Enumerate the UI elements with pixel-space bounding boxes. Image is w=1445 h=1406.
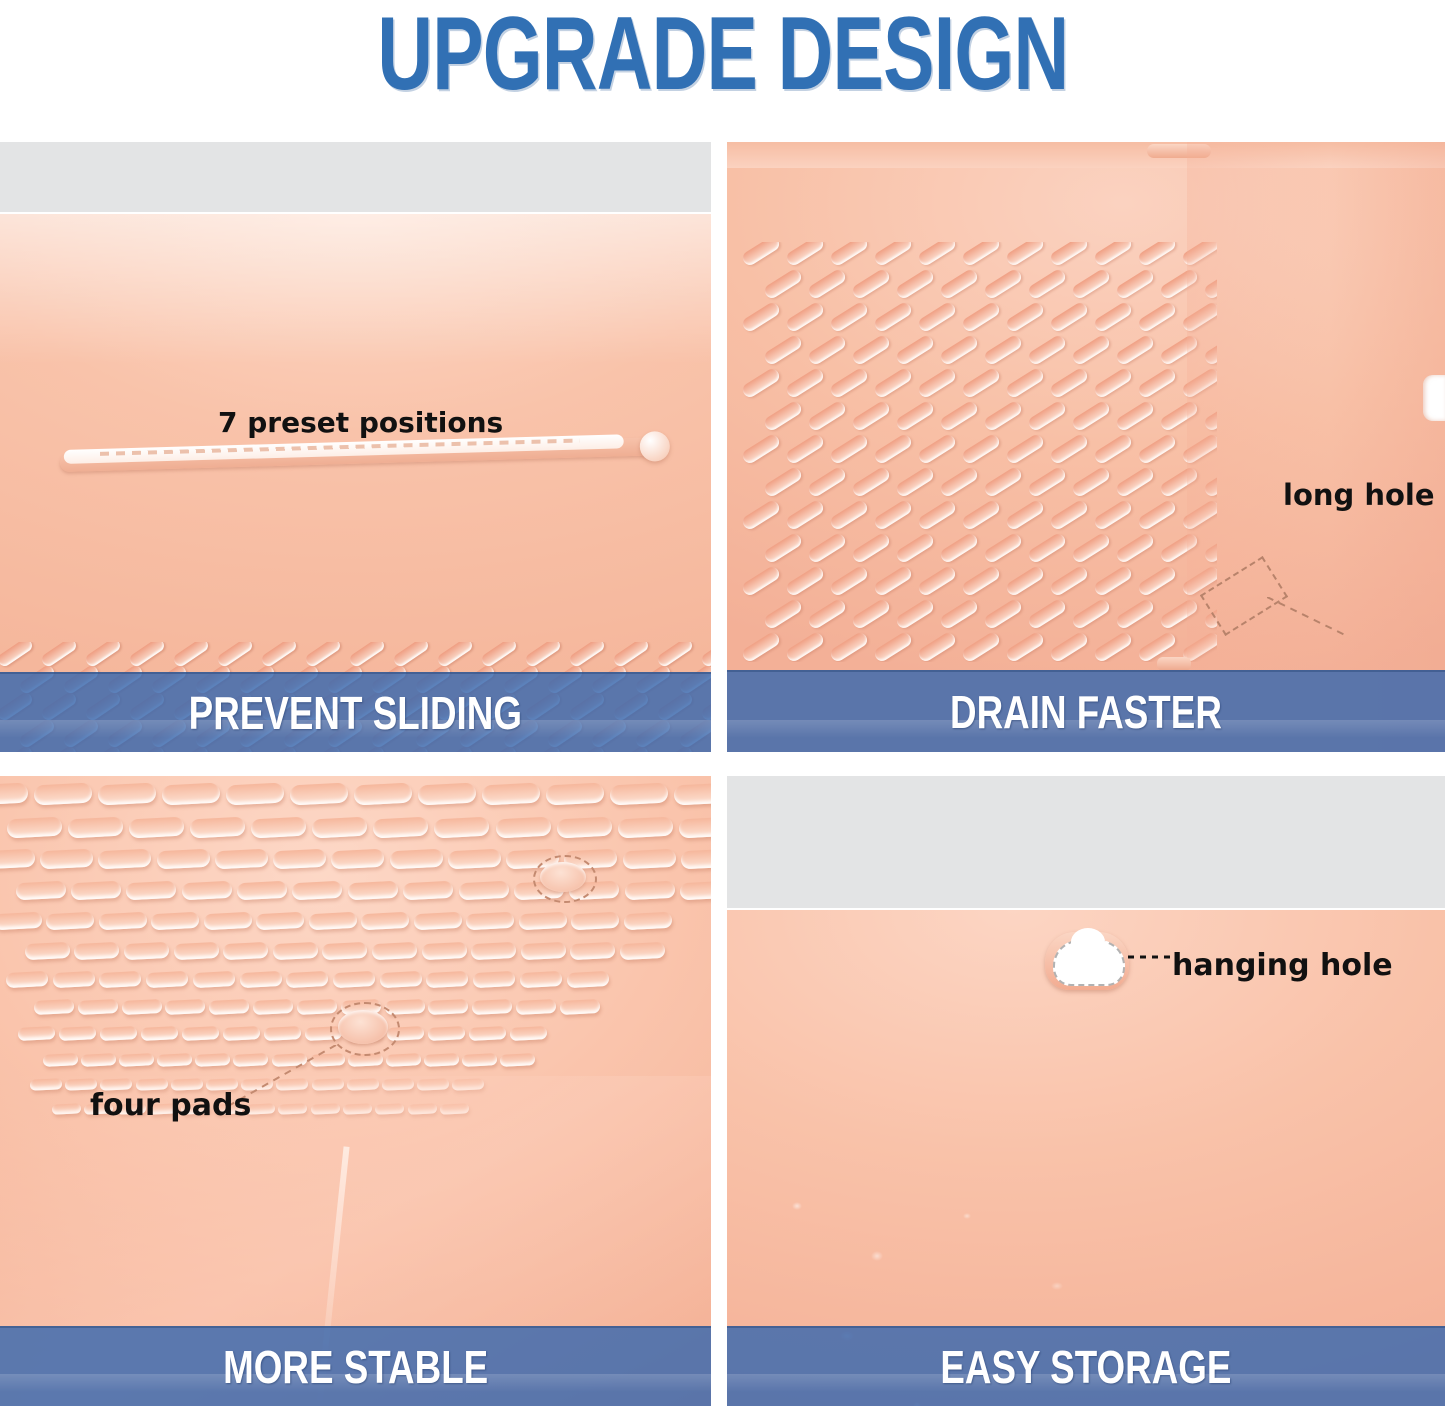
drain-slot	[1070, 399, 1111, 432]
drain-slot	[916, 630, 957, 662]
drain-slot	[850, 399, 891, 432]
drain-slot	[1026, 267, 1067, 300]
drain-slot	[872, 300, 913, 333]
drain-slot	[34, 782, 93, 805]
drain-slot	[806, 597, 847, 630]
drain-slot	[1048, 498, 1089, 531]
drain-slot	[354, 782, 413, 805]
drain-slot	[424, 1053, 459, 1067]
drain-slot	[938, 531, 979, 564]
drain-slot	[181, 881, 232, 901]
drain-slot	[308, 912, 356, 931]
drain-slot	[1070, 597, 1111, 630]
drain-slot	[500, 1053, 535, 1067]
drain-slot	[872, 242, 913, 268]
drain-slot	[1092, 564, 1133, 597]
drain-slot	[272, 942, 318, 960]
drain-slot	[872, 366, 913, 399]
drain-slot	[1092, 432, 1133, 465]
drain-slot	[850, 333, 891, 366]
drain-slot	[656, 642, 695, 669]
drain-slot	[850, 597, 891, 630]
drain-slot	[1004, 242, 1045, 268]
drain-slot	[1136, 300, 1177, 333]
drain-slot	[182, 1026, 220, 1041]
feature-panel-prevent-sliding: 7 preset positions PREVENT SLIDING	[0, 142, 711, 752]
drain-slot	[784, 564, 825, 597]
long-hole-leader-line	[1267, 597, 1347, 637]
drain-slot	[1048, 300, 1089, 333]
drain-slot	[15, 881, 66, 901]
drain-slot	[938, 465, 979, 498]
drain-slot	[204, 912, 252, 931]
drain-slot	[146, 971, 189, 988]
drain-slot	[121, 999, 161, 1015]
drain-slot	[165, 999, 205, 1015]
drain-slot	[982, 399, 1023, 432]
drain-slot	[1048, 366, 1089, 399]
drain-slot	[43, 1053, 78, 1067]
drain-slot	[172, 642, 211, 669]
drain-slot	[1026, 531, 1067, 564]
drain-slot	[612, 642, 651, 669]
drain-slot	[1092, 498, 1133, 531]
drain-slot	[784, 366, 825, 399]
drain-slot	[982, 465, 1023, 498]
four-pads-callout-circle-lower	[330, 1002, 400, 1056]
panel-caption-band: PREVENT SLIDING	[0, 672, 711, 752]
drain-slot	[347, 881, 398, 901]
drain-slot	[1048, 432, 1089, 465]
drain-slot	[1004, 564, 1045, 597]
drain-slot	[0, 782, 28, 805]
drain-slot	[1004, 432, 1045, 465]
drain-slot	[828, 498, 869, 531]
drain-slot	[894, 267, 935, 300]
drain-slot	[806, 399, 847, 432]
panel-caption-easy-storage: EASY STORAGE	[940, 1344, 1231, 1390]
drain-slot	[156, 849, 210, 870]
drain-slot	[290, 782, 349, 805]
drain-slot	[0, 912, 42, 931]
drain-slot	[124, 942, 170, 960]
panel-caption-prevent-sliding: PREVENT SLIDING	[189, 690, 522, 736]
drain-slot	[938, 399, 979, 432]
drain-slot	[784, 432, 825, 465]
drain-slot	[193, 971, 236, 988]
drain-slot	[850, 465, 891, 498]
drain-slot	[740, 630, 781, 662]
drain-slot	[1026, 399, 1067, 432]
drain-slot	[428, 999, 468, 1015]
drain-slot	[389, 849, 443, 870]
drain-slot	[304, 642, 343, 669]
drain-slot	[938, 597, 979, 630]
drain-slot	[560, 999, 600, 1015]
drain-slot	[46, 912, 94, 931]
drain-slot	[916, 432, 957, 465]
drain-slot	[0, 642, 34, 669]
drain-slot	[1092, 242, 1133, 268]
drain-slot	[740, 300, 781, 333]
drain-slot	[24, 942, 70, 960]
drain-slot	[518, 912, 566, 931]
drain-slot	[784, 242, 825, 268]
drain-slot	[1026, 465, 1067, 498]
four-pads-callout-circle-upper	[533, 855, 597, 903]
drain-slot	[828, 630, 869, 662]
drain-slot	[216, 642, 255, 669]
drain-slot	[239, 971, 282, 988]
drain-slot	[482, 782, 541, 805]
drain-slot	[960, 242, 1001, 268]
drain-slot	[18, 1026, 56, 1041]
drain-slot	[1004, 630, 1045, 662]
drain-slot	[495, 816, 551, 838]
drain-slot	[74, 942, 120, 960]
drain-slot	[617, 816, 673, 838]
drain-slot	[1048, 242, 1089, 268]
drain-slot	[570, 942, 616, 960]
feature-panel-easy-storage: EASY STORAGE	[727, 776, 1445, 1406]
drain-slot	[471, 942, 517, 960]
drain-slot	[162, 782, 221, 805]
drain-slot	[960, 300, 1001, 333]
drain-slot	[1070, 465, 1111, 498]
panel-caption-drain-faster: DRAIN FASTER	[950, 689, 1222, 735]
drain-slot	[413, 912, 461, 931]
drain-slot	[1004, 300, 1045, 333]
page-title: UPGRADE DESIGN	[377, 4, 1068, 104]
drain-slot	[1070, 267, 1111, 300]
drain-slot	[472, 999, 512, 1015]
annotation-long-hole: long hole	[1283, 478, 1435, 512]
drain-slot	[806, 531, 847, 564]
drain-slot	[872, 564, 913, 597]
drain-slot	[40, 642, 79, 669]
drain-slot	[894, 531, 935, 564]
drain-slot	[916, 498, 957, 531]
drain-slot	[938, 267, 979, 300]
drain-slot	[872, 630, 913, 662]
drain-slot	[331, 849, 385, 870]
drain-slot	[610, 782, 669, 805]
drain-slot	[622, 849, 676, 870]
drain-slot	[1136, 366, 1177, 399]
drain-slot	[806, 267, 847, 300]
drain-slot	[34, 999, 74, 1015]
annotation-preset-positions: 7 preset positions	[218, 406, 503, 439]
drain-slot	[982, 531, 1023, 564]
drain-slot	[546, 782, 605, 805]
drain-slot	[740, 366, 781, 399]
drain-slot	[403, 881, 454, 901]
drain-slot	[872, 498, 913, 531]
drain-slot	[1114, 465, 1155, 498]
drain-slot	[447, 849, 501, 870]
drain-slot	[762, 399, 803, 432]
drain-slot	[215, 849, 269, 870]
drain-slot	[740, 498, 781, 531]
panel-caption-band: DRAIN FASTER	[727, 670, 1445, 752]
drain-slot	[1136, 242, 1177, 268]
drain-slot	[762, 465, 803, 498]
drain-slot	[6, 816, 62, 838]
drain-slot	[520, 942, 566, 960]
drain-slot	[434, 816, 490, 838]
drain-slot	[680, 849, 711, 870]
drain-slot	[0, 849, 35, 870]
drain-slot	[806, 333, 847, 366]
header: UPGRADE DESIGN	[0, 0, 1445, 108]
drain-slot	[1070, 531, 1111, 564]
drain-slot	[624, 881, 675, 901]
drain-slot	[828, 242, 869, 268]
drain-slot	[1136, 498, 1177, 531]
drain-slot	[674, 782, 711, 805]
drain-slot	[916, 564, 957, 597]
drain-slot	[623, 912, 671, 931]
drain-slot	[462, 1053, 497, 1067]
annotation-hanging-hole: hanging hole	[1172, 948, 1393, 983]
drain-slot	[286, 971, 329, 988]
drain-slot	[126, 881, 177, 901]
drain-slot	[828, 366, 869, 399]
drain-slot	[71, 881, 122, 901]
drain-slot	[784, 630, 825, 662]
drain-slot	[762, 267, 803, 300]
drain-slot	[1114, 399, 1155, 432]
drain-slot	[348, 642, 387, 669]
bottom-hinge-clip	[1157, 657, 1191, 671]
drain-slot	[828, 432, 869, 465]
drain-slot	[98, 849, 152, 870]
drain-slot	[119, 1053, 154, 1067]
drain-slot	[916, 242, 957, 268]
drain-slot	[297, 999, 337, 1015]
drain-slot	[1092, 366, 1133, 399]
drain-slot	[333, 971, 376, 988]
drain-slot	[762, 531, 803, 564]
drain-slot	[568, 642, 607, 669]
drain-slot	[1114, 333, 1155, 366]
drain-slot	[894, 597, 935, 630]
drain-slot	[982, 267, 1023, 300]
drain-slot	[1136, 432, 1177, 465]
drain-slot	[260, 642, 299, 669]
drain-slot	[960, 366, 1001, 399]
drain-slot	[436, 642, 475, 669]
drain-slot	[566, 971, 609, 988]
drain-slot	[1114, 531, 1155, 564]
drain-slot	[762, 597, 803, 630]
drain-slot	[473, 971, 516, 988]
drain-slot	[960, 564, 1001, 597]
feature-panel-drain-faster: DRAIN FASTER	[727, 142, 1445, 752]
drain-slot	[894, 465, 935, 498]
panel-caption-band: MORE STABLE	[0, 1326, 711, 1406]
drain-slot	[322, 942, 368, 960]
drain-slot	[1070, 333, 1111, 366]
drain-slot	[189, 816, 245, 838]
hanging-hole	[1045, 932, 1129, 990]
drain-slot	[1026, 597, 1067, 630]
drain-slot	[938, 333, 979, 366]
drain-slot	[620, 942, 666, 960]
drain-slot	[273, 849, 327, 870]
drain-slot	[509, 1026, 547, 1041]
drain-slot	[237, 881, 288, 901]
drain-slot	[850, 531, 891, 564]
drain-slot	[784, 498, 825, 531]
drain-slot	[1092, 300, 1133, 333]
drain-slot	[392, 642, 431, 669]
drain-slot	[916, 300, 957, 333]
drain-slot	[59, 1026, 97, 1041]
panel-caption-more-stable: MORE STABLE	[223, 1344, 488, 1390]
drain-slot	[418, 782, 477, 805]
hanging-hole-bump	[1071, 928, 1105, 956]
hanging-hole-leader-line	[1128, 950, 1170, 964]
drain-slot	[222, 1026, 260, 1041]
drain-slot	[1136, 564, 1177, 597]
drain-slot	[1092, 630, 1133, 662]
annotation-four-pads: four pads	[90, 1088, 251, 1123]
drain-slot	[253, 999, 293, 1015]
drain-slot	[740, 242, 781, 268]
drain-slot	[128, 816, 184, 838]
drain-slot	[292, 881, 343, 901]
drain-slot	[100, 1026, 138, 1041]
background-gray-band	[0, 142, 711, 214]
drain-slot	[379, 971, 422, 988]
drain-slot	[982, 597, 1023, 630]
drain-slot	[372, 942, 418, 960]
drain-slot	[894, 399, 935, 432]
background-gray-band	[727, 776, 1445, 910]
drain-slot	[99, 912, 147, 931]
drain-slot	[151, 912, 199, 931]
drain-slot	[421, 942, 467, 960]
side-notch	[1423, 375, 1445, 421]
drain-slot	[678, 816, 711, 838]
drain-slot	[81, 1053, 116, 1067]
drain-slot	[385, 1053, 420, 1067]
drain-slot	[427, 1026, 465, 1041]
drain-slot	[784, 300, 825, 333]
drain-slot	[680, 881, 711, 901]
drain-slot	[1048, 564, 1089, 597]
drain-slot	[1048, 630, 1089, 662]
drain-slot	[98, 782, 157, 805]
drain-slot	[960, 630, 1001, 662]
drain-slot	[466, 912, 514, 931]
drain-slot	[263, 1026, 301, 1041]
drain-slot	[571, 912, 619, 931]
drain-slot	[195, 1053, 230, 1067]
drain-slot	[256, 912, 304, 931]
drain-slot	[1004, 498, 1045, 531]
drain-slot	[556, 816, 612, 838]
drain-slot	[740, 564, 781, 597]
drain-slot	[700, 642, 711, 669]
drain-slot	[916, 366, 957, 399]
drain-slot	[740, 432, 781, 465]
drain-slot	[1026, 333, 1067, 366]
drain-slot	[67, 816, 123, 838]
drain-slot	[960, 432, 1001, 465]
drain-slot	[6, 971, 49, 988]
drain-slot	[828, 564, 869, 597]
drain-slot	[762, 333, 803, 366]
drain-hole-field	[737, 242, 1217, 662]
drain-slot	[312, 816, 368, 838]
drain-slot	[1004, 366, 1045, 399]
drain-slot	[982, 333, 1023, 366]
drain-slot	[960, 498, 1001, 531]
drain-slot	[806, 465, 847, 498]
drain-slot	[516, 999, 556, 1015]
drain-slot	[226, 782, 285, 805]
drain-slot	[373, 816, 429, 838]
drain-slot	[173, 942, 219, 960]
drain-slot	[894, 333, 935, 366]
drain-slot	[157, 1053, 192, 1067]
drain-slot	[40, 849, 94, 870]
drain-slot	[1114, 597, 1155, 630]
drain-slot	[828, 300, 869, 333]
drain-slot	[480, 642, 519, 669]
drain-slot	[524, 642, 563, 669]
drain-slot	[209, 999, 249, 1015]
drain-slot	[520, 971, 563, 988]
panel-caption-band: EASY STORAGE	[727, 1326, 1445, 1406]
inner-wall-shading	[1187, 142, 1445, 752]
drain-slot	[1114, 267, 1155, 300]
drain-slot	[426, 971, 469, 988]
drain-slot	[141, 1026, 179, 1041]
product-highlight	[0, 214, 711, 364]
drain-slot	[223, 942, 269, 960]
drain-slot	[99, 971, 142, 988]
drain-slot	[84, 642, 123, 669]
drain-slot	[361, 912, 409, 931]
drain-slot	[872, 432, 913, 465]
drain-slot	[77, 999, 117, 1015]
drain-slot	[251, 816, 307, 838]
drain-slot	[128, 642, 167, 669]
drain-slot	[468, 1026, 506, 1041]
drain-slot	[52, 971, 95, 988]
drain-slot	[850, 267, 891, 300]
drain-slot	[458, 881, 509, 901]
